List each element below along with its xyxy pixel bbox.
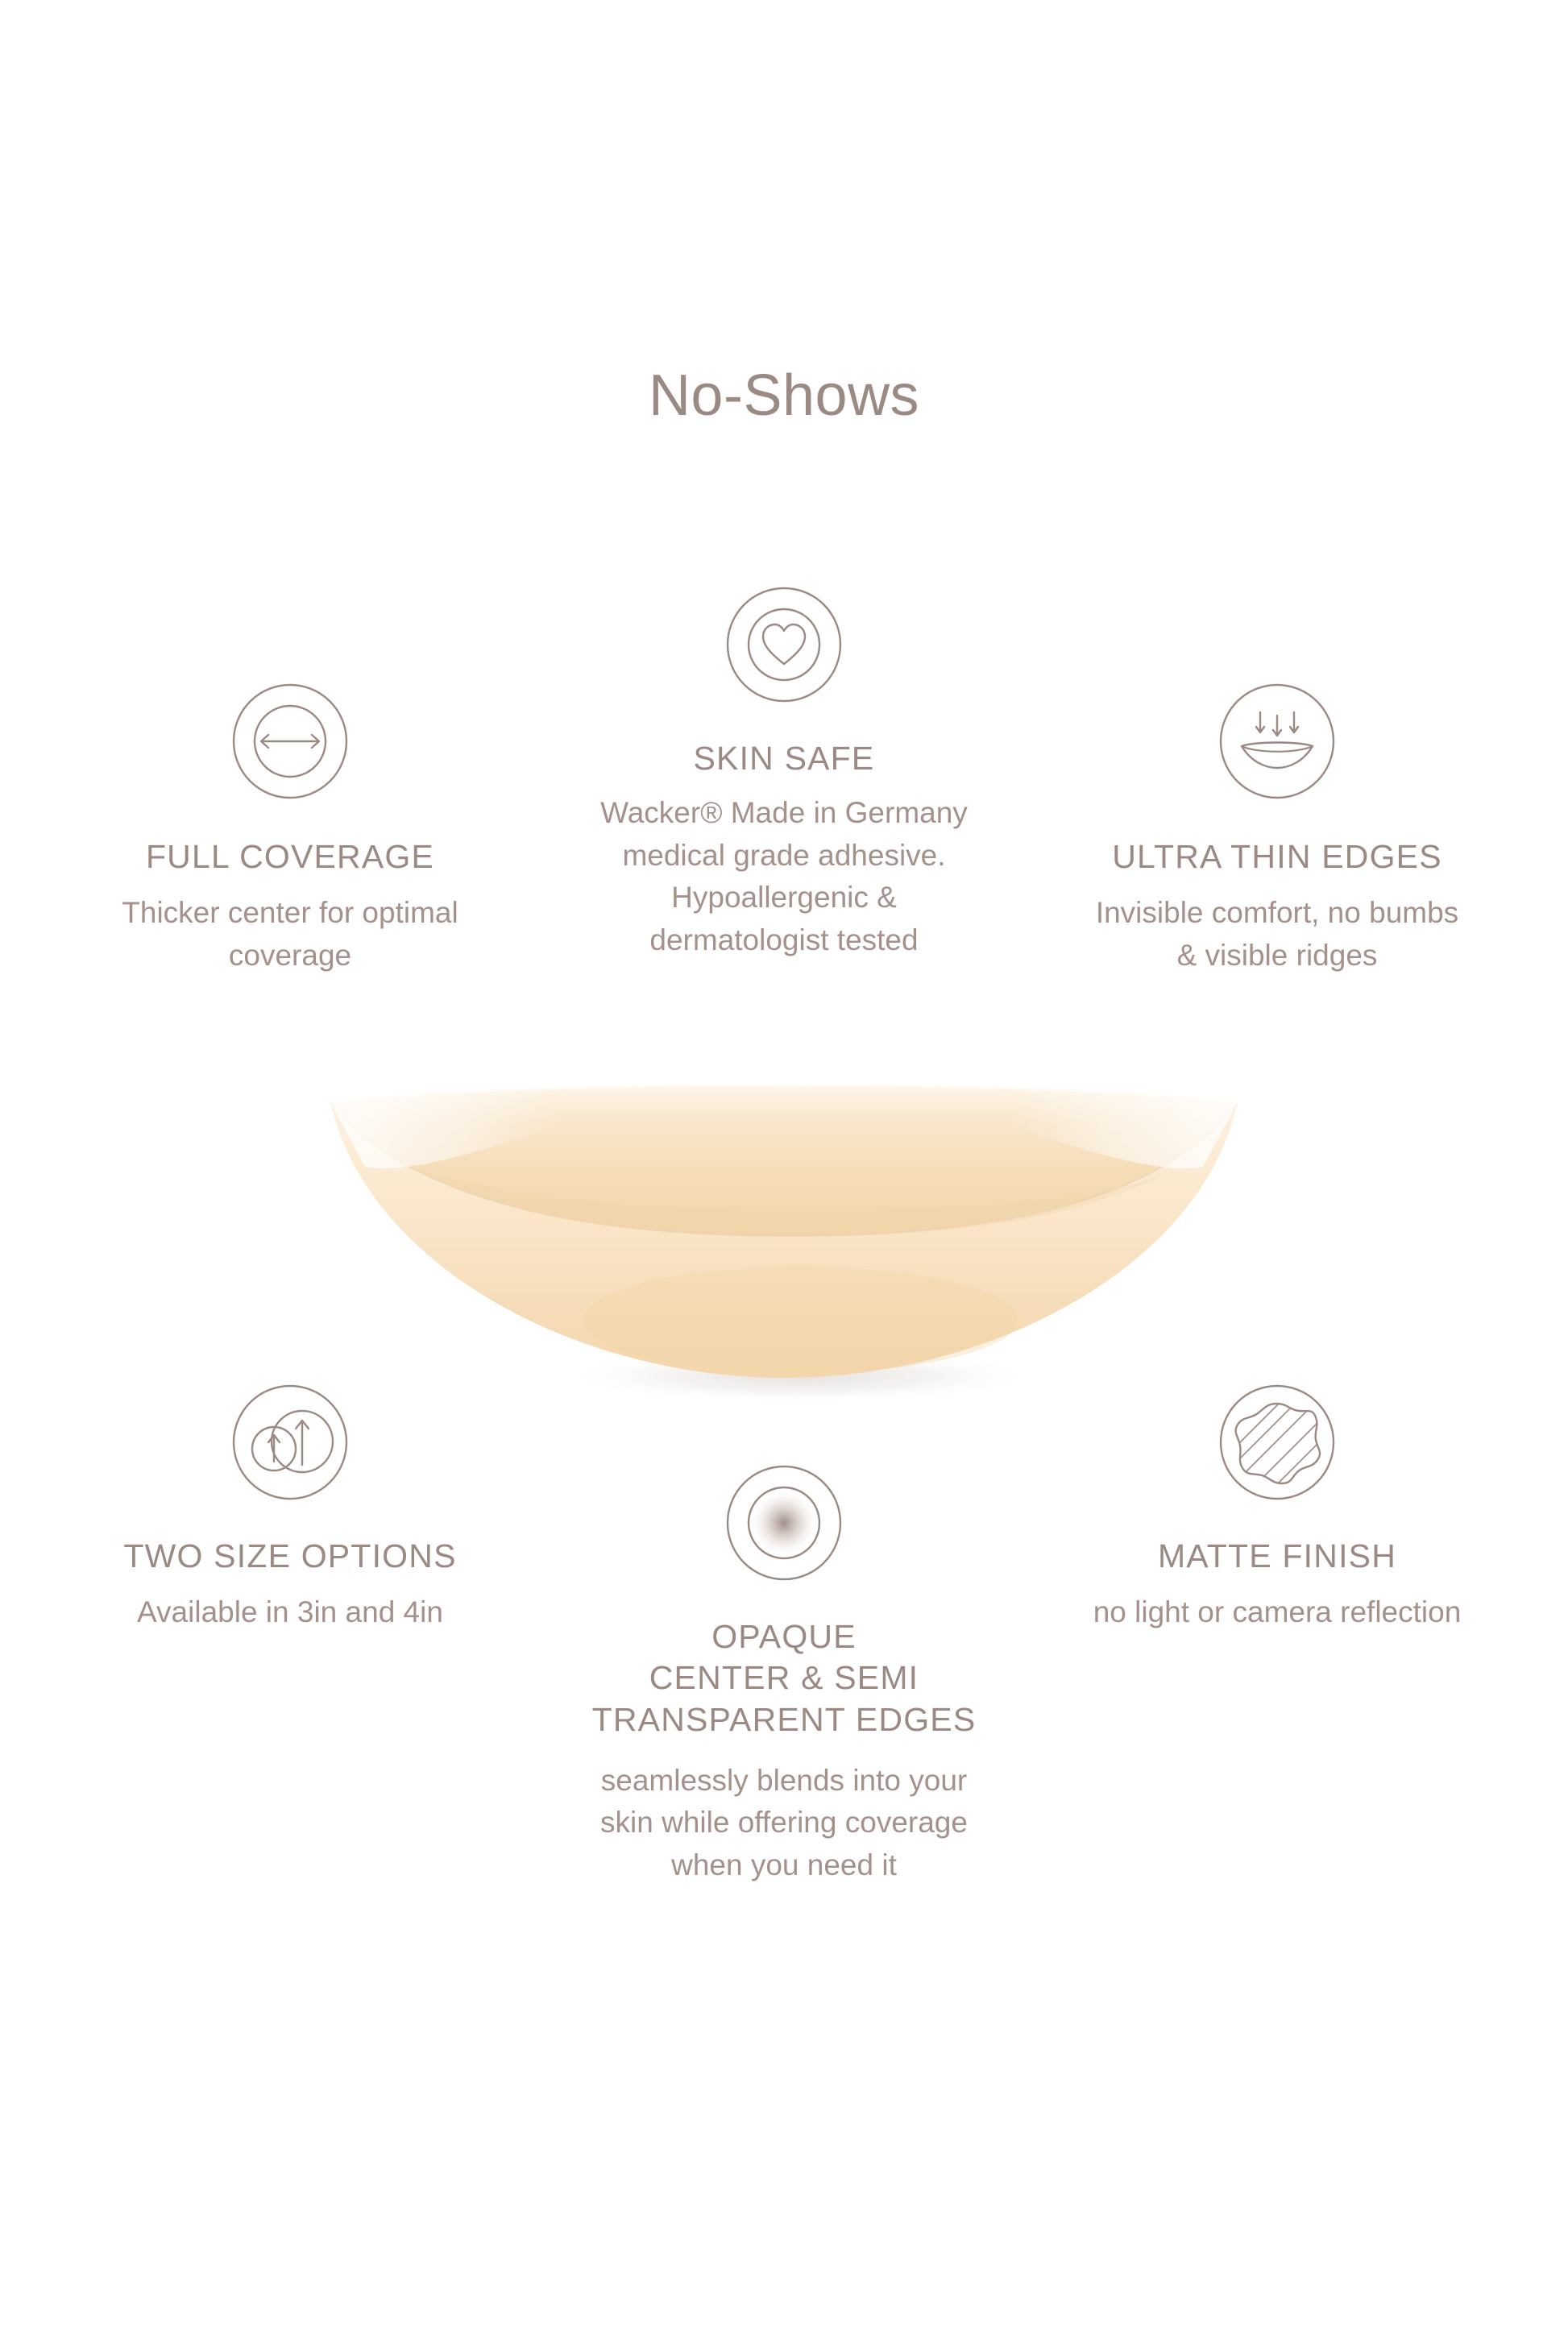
feature-title: ULTRA THIN EDGES <box>999 836 1555 877</box>
feature-description: Invisible comfort, no bumbs & visible ri… <box>999 892 1555 977</box>
heart-circle-icon <box>720 580 848 709</box>
page-title: No-Shows <box>0 364 1568 428</box>
two-circles-arrows-icon <box>226 1378 355 1507</box>
icon-container <box>506 564 1062 709</box>
icon-container <box>12 1362 568 1507</box>
icon-container <box>12 661 568 806</box>
feature-skin-safe: SKIN SAFE Wacker® Made in Germany medica… <box>506 564 1062 961</box>
feature-title: FULL COVERAGE <box>12 836 568 877</box>
infographic-page: No-Shows FULL COVERAGE Thicker center fo… <box>0 0 1568 2352</box>
icon-container <box>999 661 1555 806</box>
feature-description: Available in 3in and 4in <box>12 1591 568 1634</box>
feature-ultra-thin-edges: ULTRA THIN EDGES Invisible comfort, no b… <box>999 661 1555 977</box>
feature-full-coverage: FULL COVERAGE Thicker center for optimal… <box>12 661 568 977</box>
feature-title: MATTE FINISH <box>999 1536 1555 1577</box>
feature-description: no light or camera reflection <box>999 1591 1555 1634</box>
radial-gradient-circle-icon <box>720 1458 848 1587</box>
feature-opaque-center: OPAQUE CENTER & SEMI TRANSPARENT EDGES s… <box>506 1442 1062 1886</box>
icon-container <box>999 1362 1555 1507</box>
down-arrows-lens-icon <box>1213 677 1342 806</box>
feature-title: TWO SIZE OPTIONS <box>12 1536 568 1577</box>
icon-container <box>506 1442 1062 1587</box>
feature-description: Wacker® Made in Germany medical grade ad… <box>506 792 1062 961</box>
arrow-width-circle-icon <box>226 677 355 806</box>
feature-matte-finish: MATTE FINISH no light or camera reflecti… <box>999 1362 1555 1634</box>
feature-description: Thicker center for optimal coverage <box>12 892 568 977</box>
feature-title: OPAQUE CENTER & SEMI TRANSPARENT EDGES <box>506 1616 1062 1740</box>
feature-two-size-options: TWO SIZE OPTIONS Available in 3in and 4i… <box>12 1362 568 1634</box>
feature-title: SKIN SAFE <box>506 738 1062 779</box>
hatched-blob-circle-icon <box>1213 1378 1342 1507</box>
feature-description: seamlessly blends into your skin while o… <box>506 1760 1062 1887</box>
